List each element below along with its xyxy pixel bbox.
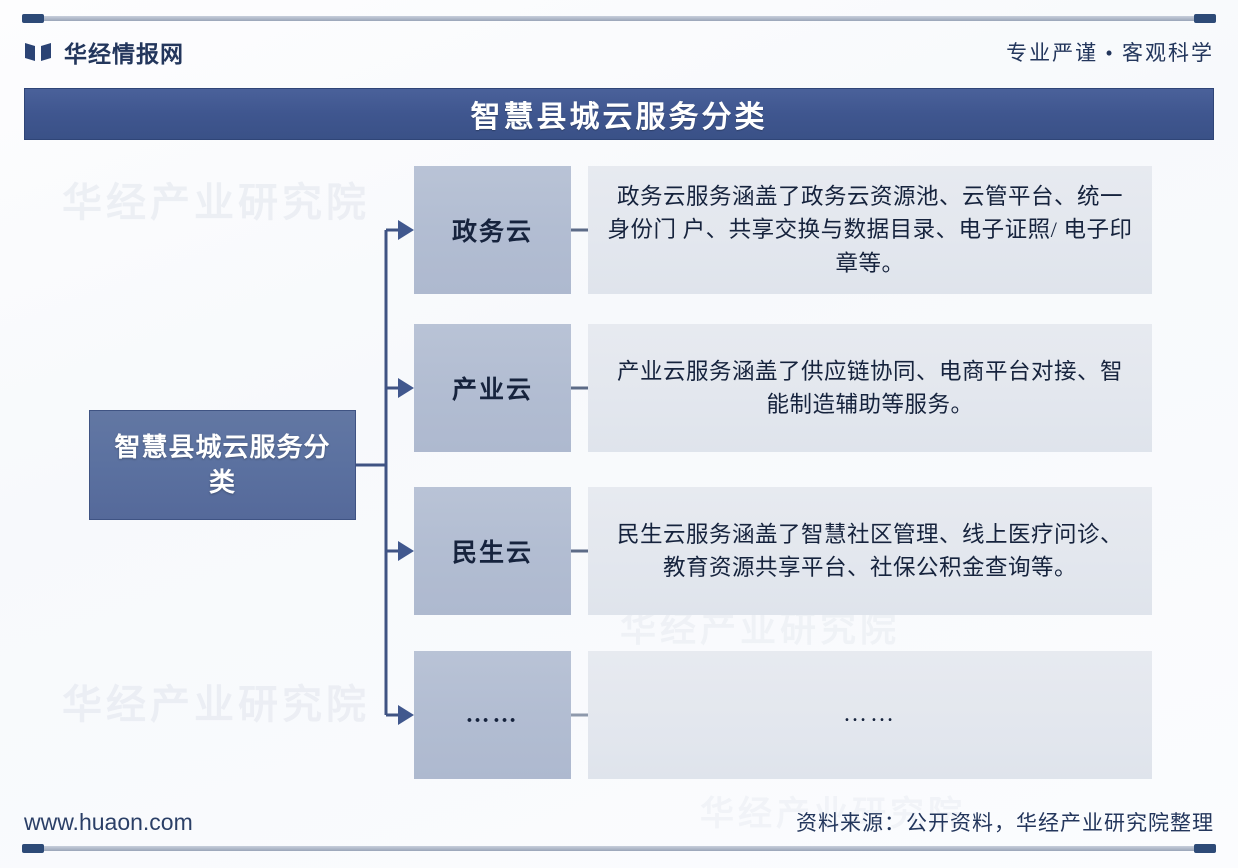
- page-footer: www.huaon.com 资料来源：公开资料，华经产业研究院整理: [24, 800, 1214, 844]
- connector-gap: [571, 166, 588, 294]
- diagram-canvas: 智慧县城云服务分类 政务云 政务云服务涵盖了政务云资源池、云管平台、统一身份门 …: [0, 150, 1238, 790]
- bottom-divider-rule: [24, 846, 1214, 851]
- top-divider-rule: [24, 16, 1214, 21]
- branch-row: …… ……: [414, 651, 1152, 779]
- branch-row: 民生云 民生云服务涵盖了智慧社区管理、线上医疗问诊、教育资源共享平台、社保公积金…: [414, 487, 1152, 615]
- category-label: 政务云: [452, 212, 533, 248]
- connector-gap: [571, 487, 588, 615]
- description-box-chanyeyun[interactable]: 产业云服务涵盖了供应链协同、电商平台对接、智能制造辅助等服务。: [588, 324, 1152, 452]
- description-box-minshengyun[interactable]: 民生云服务涵盖了智慧社区管理、线上医疗问诊、教育资源共享平台、社保公积金查询等。: [588, 487, 1152, 615]
- rule-cap-left: [22, 844, 44, 853]
- category-box-minshengyun[interactable]: 民生云: [414, 487, 571, 615]
- category-box-chanyeyun[interactable]: 产业云: [414, 324, 571, 452]
- rule-cap-right: [1194, 14, 1216, 23]
- branch-row: 政务云 政务云服务涵盖了政务云资源池、云管平台、统一身份门 户、共享交换与数据目…: [414, 166, 1152, 294]
- branch-row: 产业云 产业云服务涵盖了供应链协同、电商平台对接、智能制造辅助等服务。: [414, 324, 1152, 452]
- rule-cap-left: [22, 14, 44, 23]
- page-title: 智慧县城云服务分类: [471, 92, 768, 136]
- open-book-logo-icon: [24, 40, 52, 64]
- source-note: 资料来源：公开资料，华经产业研究院整理: [796, 807, 1214, 837]
- category-label: 民生云: [452, 533, 533, 569]
- site-url[interactable]: www.huaon.com: [24, 809, 193, 836]
- description-box-more[interactable]: ……: [588, 651, 1152, 779]
- brand-name: 华经情报网: [64, 35, 184, 69]
- connector-gap: [571, 324, 588, 452]
- category-label: 产业云: [452, 370, 533, 406]
- category-box-zhengwuyun[interactable]: 政务云: [414, 166, 571, 294]
- header-slogan: 专业严谨 • 客观科学: [1006, 37, 1214, 67]
- title-band: 智慧县城云服务分类: [24, 88, 1214, 140]
- page-header: 华经情报网 专业严谨 • 客观科学: [24, 28, 1214, 76]
- rule-cap-right: [1194, 844, 1216, 853]
- description-text: 产业云服务涵盖了供应链协同、电商平台对接、智能制造辅助等服务。: [606, 355, 1134, 422]
- category-label: ……: [466, 702, 520, 729]
- root-node[interactable]: 智慧县城云服务分类: [89, 410, 356, 520]
- infographic-page: 华经产业研究院 华经产业研究院 华经产业研究院 华经产业研究院 华经情报网 专业…: [0, 0, 1238, 868]
- connector-gap: [571, 651, 588, 779]
- brand: 华经情报网: [24, 35, 184, 69]
- description-text: 政务云服务涵盖了政务云资源池、云管平台、统一身份门 户、共享交换与数据目录、电子…: [606, 180, 1134, 280]
- category-box-more[interactable]: ……: [414, 651, 571, 779]
- description-text: ……: [843, 697, 897, 733]
- root-node-label: 智慧县城云服务分类: [90, 430, 355, 500]
- description-text: 民生云服务涵盖了智慧社区管理、线上医疗问诊、教育资源共享平台、社保公积金查询等。: [606, 518, 1134, 585]
- description-box-zhengwuyun[interactable]: 政务云服务涵盖了政务云资源池、云管平台、统一身份门 户、共享交换与数据目录、电子…: [588, 166, 1152, 294]
